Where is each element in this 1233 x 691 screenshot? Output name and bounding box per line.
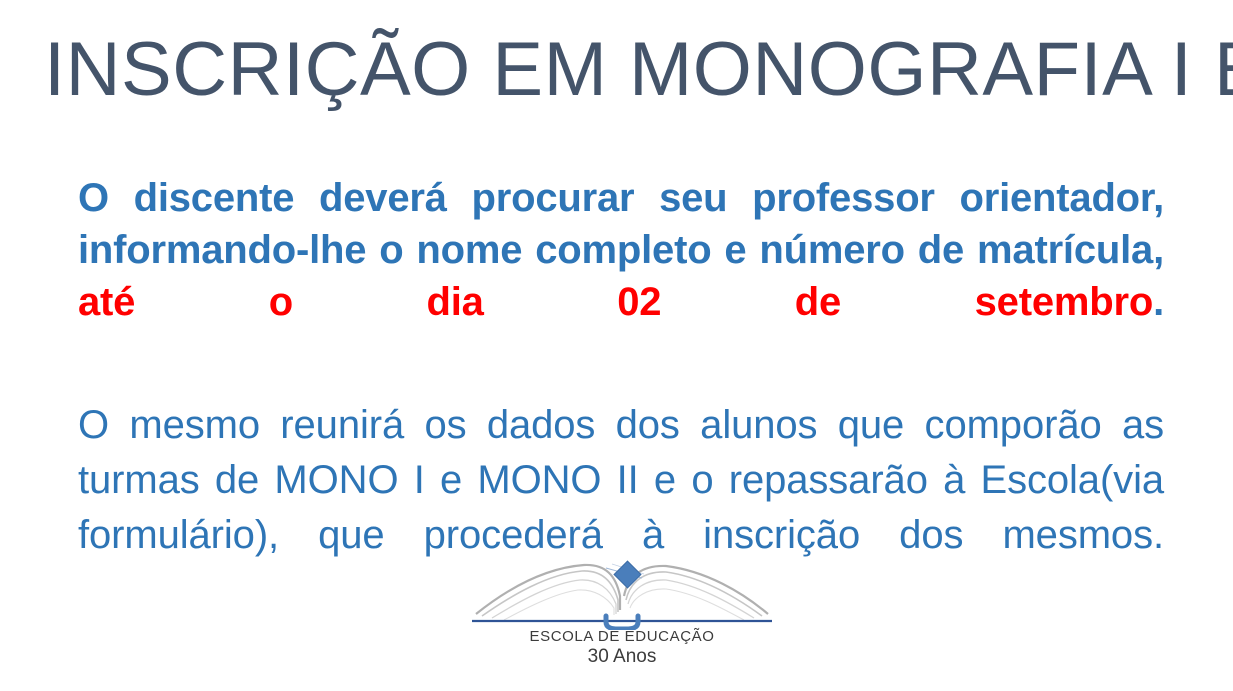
logo-caption-line-1: ESCOLA DE EDUCAÇÃO (466, 628, 778, 646)
diamond-accent-icon (614, 561, 641, 588)
paragraph-1: O discente deverá procurar seu professor… (78, 172, 1164, 380)
slide: INSCRIÇÃO EM MONOGRAFIA I E II O discent… (0, 0, 1233, 691)
logo-caption: ESCOLA DE EDUCAÇÃO 30 Anos (466, 628, 778, 667)
paragraph-1-segment-1: O discente deverá procurar seu professor… (78, 176, 1164, 272)
open-book-icon (466, 552, 778, 630)
escola-de-educacao-logo: ESCOLA DE EDUCAÇÃO 30 Anos (466, 552, 778, 670)
logo-caption-line-2: 30 Anos (466, 646, 778, 667)
paragraph-2-segment-1: O mesmo reunirá os dados dos alunos que … (78, 403, 1164, 557)
paragraph-1-highlight-deadline: até o dia 02 de setembro (78, 280, 1153, 324)
paragraph-1-segment-3: . (1153, 280, 1164, 324)
page-title: INSCRIÇÃO EM MONOGRAFIA I E II (44, 22, 1194, 118)
